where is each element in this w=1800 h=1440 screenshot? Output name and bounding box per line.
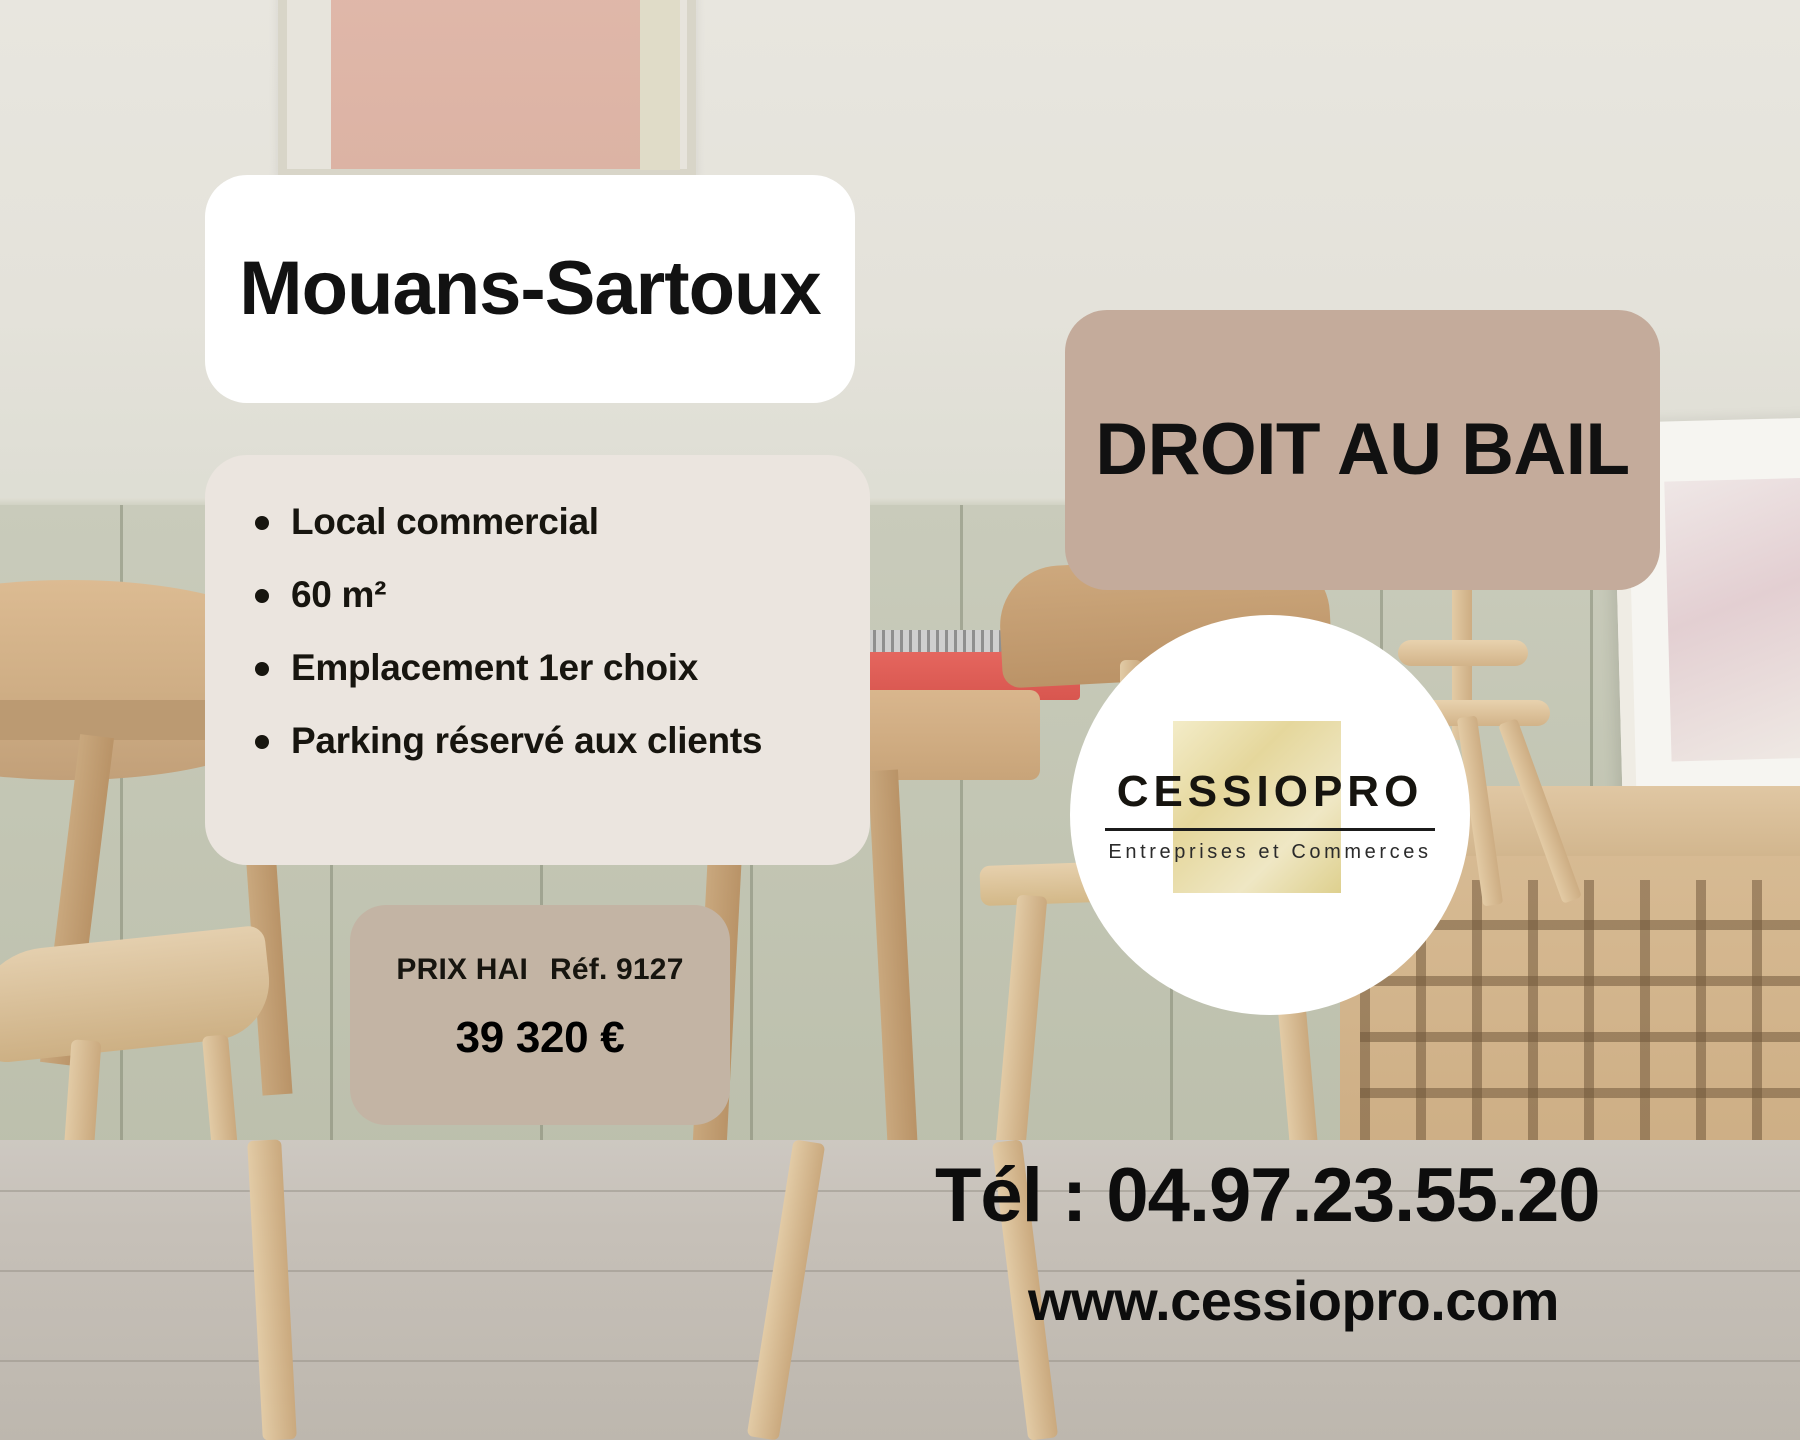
- feature-label: Local commercial: [291, 501, 599, 542]
- price-meta-row: PRIX HAIRéf. 9127: [370, 953, 710, 987]
- contact-website[interactable]: www.cessiopro.com: [1028, 1268, 1559, 1333]
- price-label: PRIX HAI: [396, 953, 528, 986]
- notebook-spiral: [858, 630, 1008, 652]
- feature-label: Emplacement 1er choix: [291, 647, 698, 688]
- reference-label: Réf. 9127: [550, 953, 684, 986]
- feature-label: 60 m²: [291, 574, 386, 615]
- company-logo: CESSIOPRO Entreprises et Commerces: [1070, 615, 1470, 1015]
- bullet-icon: [255, 662, 269, 676]
- price-amount: 39 320 €: [370, 1013, 710, 1063]
- page-title: Mouans-Sartoux: [239, 250, 820, 328]
- logo-inner: CESSIOPRO Entreprises et Commerces: [1085, 767, 1455, 864]
- badge-label: DROIT AU BAIL: [1095, 411, 1629, 490]
- wall-art-frame: [278, 0, 696, 178]
- list-item: Parking réservé aux clients: [247, 718, 828, 763]
- logo-tagline: Entreprises et Commerces: [1108, 841, 1431, 864]
- wall-art-frame-secondary: [640, 0, 680, 170]
- bullet-icon: [255, 589, 269, 603]
- price-card: PRIX HAIRéf. 9127 39 320 €: [350, 905, 730, 1125]
- feature-label: Parking réservé aux clients: [291, 720, 762, 761]
- easel-ring-upper: [1398, 640, 1528, 666]
- list-item: Local commercial: [247, 499, 828, 544]
- logo-divider: [1105, 828, 1435, 831]
- bullet-icon: [255, 516, 269, 530]
- bullet-icon: [255, 735, 269, 749]
- list-item: 60 m²: [247, 572, 828, 617]
- location-title-card: Mouans-Sartoux: [205, 175, 855, 403]
- feature-list: Local commercial 60 m² Emplacement 1er c…: [247, 499, 828, 764]
- features-card: Local commercial 60 m² Emplacement 1er c…: [205, 455, 870, 865]
- logo-brand-name: CESSIOPRO: [1117, 767, 1424, 817]
- list-item: Emplacement 1er choix: [247, 645, 828, 690]
- property-listing-poster: Mouans-Sartoux Local commercial 60 m² Em…: [0, 0, 1800, 1440]
- leaning-picture-art: [1664, 478, 1800, 762]
- status-badge: DROIT AU BAIL: [1065, 310, 1660, 590]
- panel-groove: [960, 505, 963, 1165]
- art-canvas: [331, 0, 643, 169]
- contact-phone[interactable]: Tél : 04.97.23.55.20: [935, 1152, 1599, 1239]
